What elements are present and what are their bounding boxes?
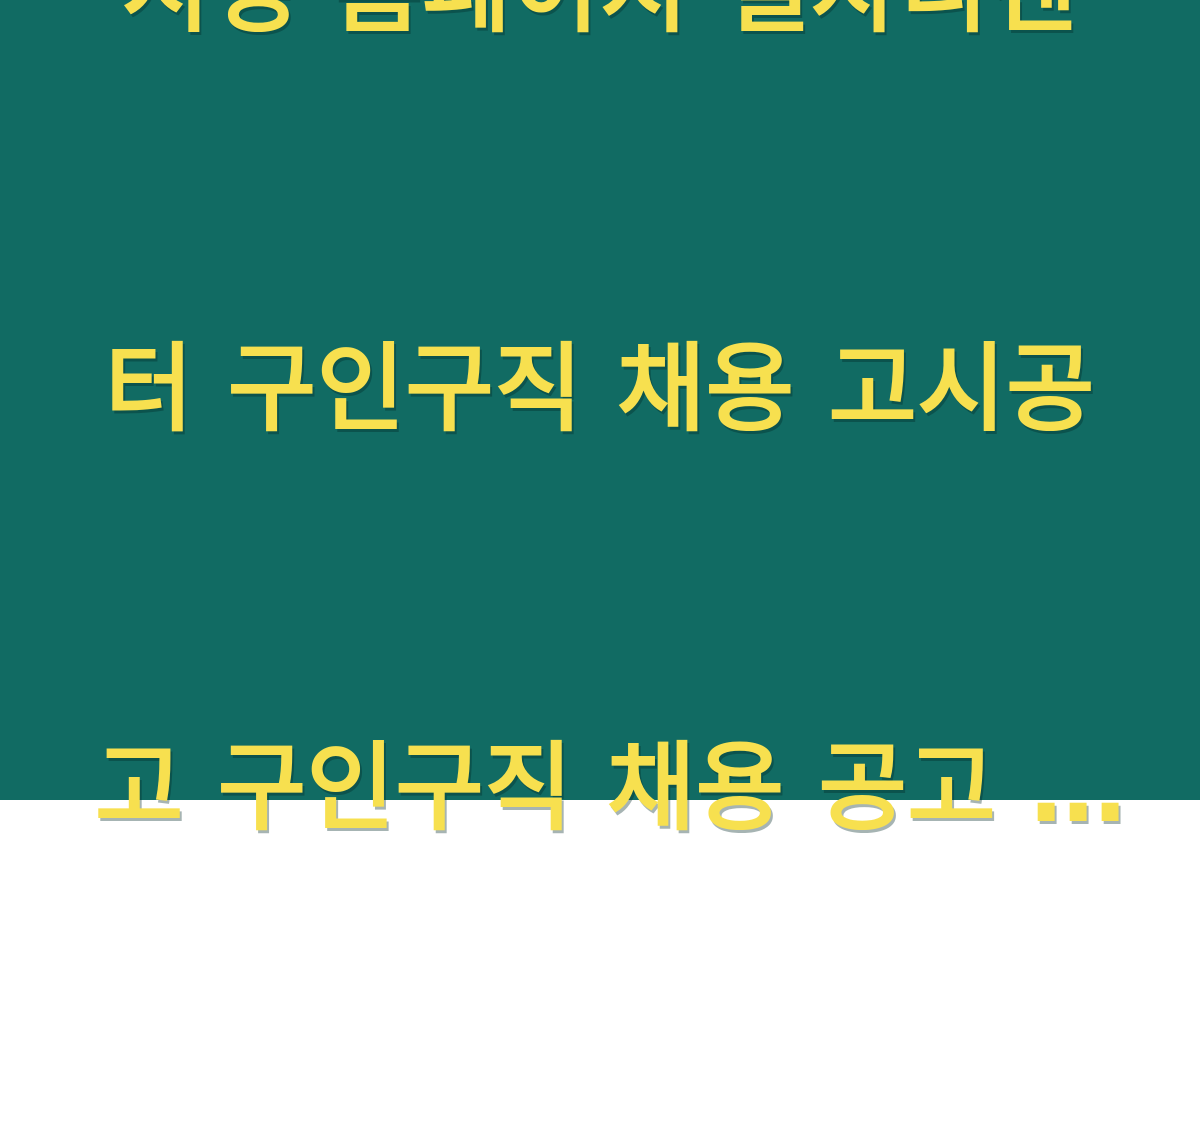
headline-line-2: 터 구인구직 채용 고시공 [95,323,1105,456]
headline-line-3: 고 구인구직 채용 공고 … [95,722,1105,855]
headline-line-1: 시청 홈페이지 일자리센 [95,0,1105,57]
headline-text-block: 시청 홈페이지 일자리센 터 구인구직 채용 고시공 고 구인구직 채용 공고 … [95,0,1105,1121]
poster-canvas: 시청 홈페이지 일자리센 터 구인구직 채용 고시공 고 구인구직 채용 공고 … [0,0,1200,800]
